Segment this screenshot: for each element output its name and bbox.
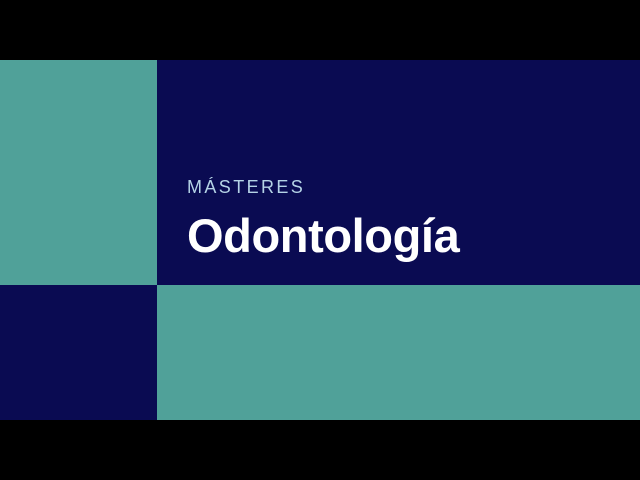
video-frame: MÁSTERES Odontología [0,0,640,480]
letterbox-bar-top [0,0,640,60]
color-block-top-left [0,60,157,285]
color-block-bottom-left [0,285,157,420]
eyebrow-label: MÁSTERES [187,178,459,196]
color-block-bottom-right [157,285,640,420]
slate-content-band: MÁSTERES Odontología [0,60,640,420]
page-title: Odontología [187,212,459,259]
letterbox-bar-bottom [0,420,640,480]
title-group: MÁSTERES Odontología [187,178,459,259]
